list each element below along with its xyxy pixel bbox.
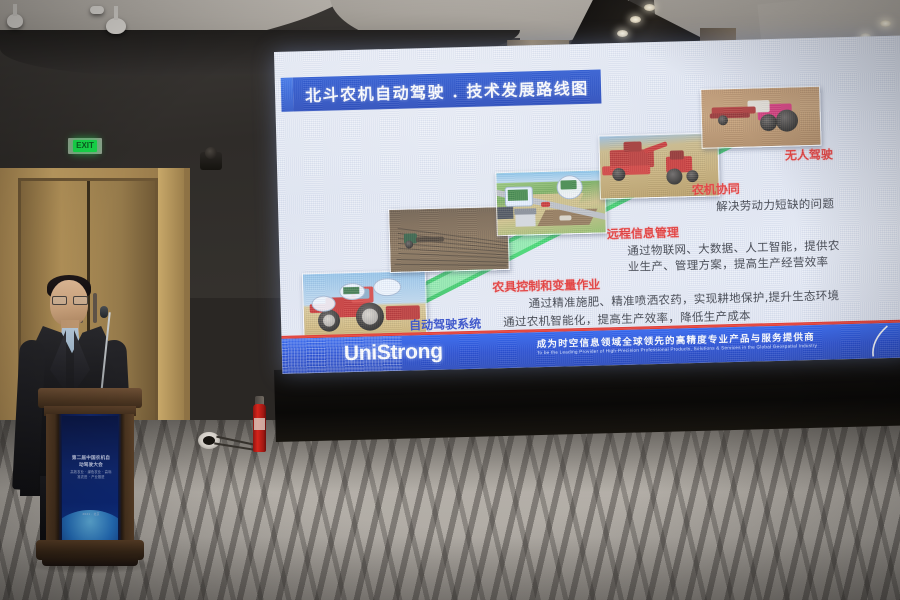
- podium-banner-line1: 第二届中国农机自动驾驶大会: [70, 456, 112, 470]
- podium-top: [38, 388, 142, 408]
- slide-title-text: 北斗农机自动驾驶 . 技术发展路线图: [305, 75, 589, 106]
- glasses-icon: [52, 296, 86, 303]
- podium-lectern: 第二届中国农机自动驾驶大会 高效农业 · 绿色农业 · 高标准农田 · 产业推进…: [40, 388, 140, 568]
- stage-label-2: 农具控制和变量作业: [492, 276, 600, 296]
- podium-banner-line2: 高效农业 · 绿色农业 · 高标准农田 · 产业推进: [70, 470, 112, 480]
- conference-photo-scene: EXIT: [0, 0, 900, 600]
- camera-stem: [114, 6, 118, 20]
- extinguisher-label: [254, 418, 265, 430]
- stage-label-4: 农机协同: [692, 180, 740, 198]
- led-wall-screen: 北斗农机自动驾驶 . 技术发展路线图: [274, 36, 900, 374]
- downlight-icon: [880, 20, 891, 27]
- downlight-icon: [644, 4, 655, 11]
- ceiling-sensor-icon: [90, 6, 104, 14]
- exit-sign-label: EXIT: [76, 142, 94, 150]
- stage-photo-autonomous-seeder: [700, 86, 822, 149]
- slide-title-bar: 北斗农机自动驾驶 . 技术发展路线图: [293, 69, 602, 111]
- exit-sign-glow: EXIT: [73, 140, 97, 152]
- microphone-icon: [100, 306, 108, 318]
- camera-stem: [13, 4, 17, 16]
- stage-label-3: 远程信息管理: [607, 223, 679, 242]
- stage-desc-4: 解决劳动力短缺的问题: [716, 195, 834, 214]
- downlight-icon: [617, 30, 628, 37]
- floor-outlet-icon: [198, 432, 220, 449]
- security-camera-icon: [106, 18, 126, 34]
- wall-speaker-icon: [200, 152, 222, 170]
- exit-sign: EXIT: [68, 138, 102, 154]
- swoosh-icon: [861, 324, 896, 359]
- security-camera-icon: [7, 14, 23, 28]
- downlight-icon: [630, 16, 641, 23]
- stage-label-5: 无人驾驶: [785, 145, 833, 163]
- stage-photo-farm-diagram: [495, 169, 607, 236]
- podium-banner: 第二届中国农机自动驾驶大会 高效农业 · 绿色农业 · 高标准农田 · 产业推进…: [62, 416, 118, 540]
- title-accent-tab: [281, 78, 294, 112]
- unistrong-logo: UniStrong: [344, 340, 443, 367]
- stage-photo-ploughed-field: [388, 206, 510, 273]
- podium-base-plinth: [42, 556, 138, 566]
- podium-banner-line3: 2021 · 北京: [70, 512, 112, 516]
